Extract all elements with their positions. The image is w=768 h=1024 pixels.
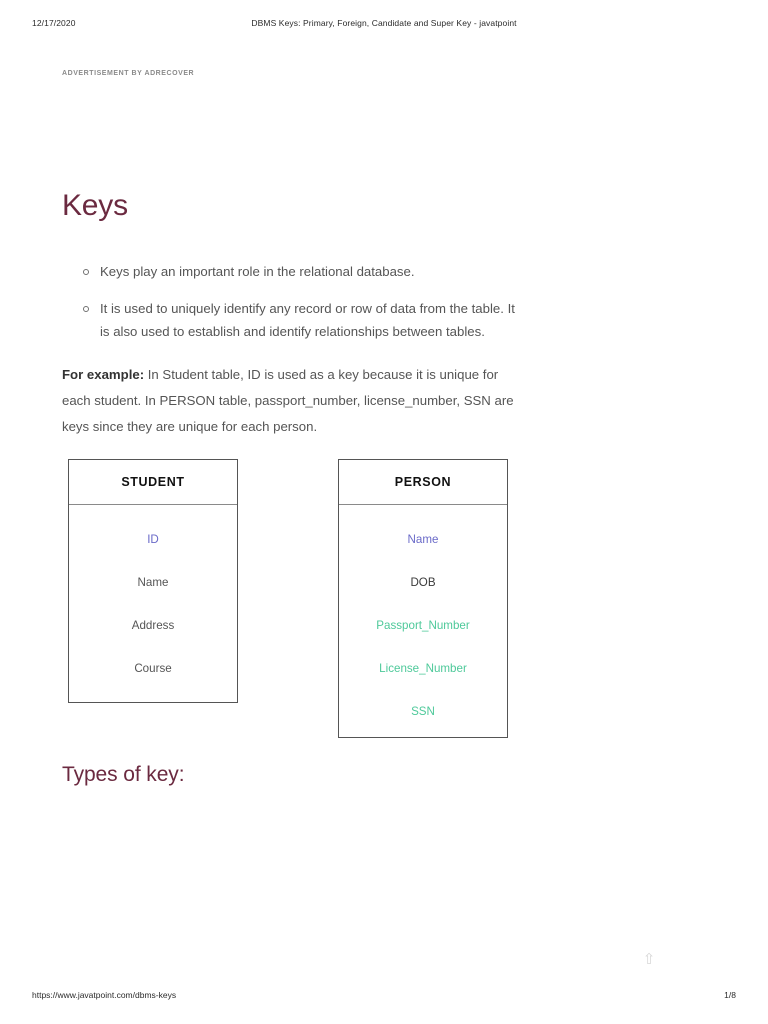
entity-field: SSN: [339, 690, 507, 733]
list-item: Keys play an important role in the relat…: [100, 260, 520, 284]
entity-table-body: Name DOB Passport_Number License_Number …: [339, 505, 507, 733]
article-content: Keys Keys play an important role in the …: [62, 186, 582, 440]
entity-field: Address: [69, 604, 237, 647]
entity-field: Course: [69, 647, 237, 690]
example-paragraph: For example: In Student table, ID is use…: [62, 362, 514, 440]
print-source-url: https://www.javatpoint.com/dbms-keys: [32, 990, 176, 1000]
entity-field: ID: [69, 518, 237, 561]
entity-field: DOB: [339, 561, 507, 604]
entity-field: Name: [69, 561, 237, 604]
example-lead: For example:: [62, 367, 144, 382]
entity-table-body: ID Name Address Course: [69, 505, 237, 690]
entity-table-header: STUDENT: [69, 460, 237, 505]
print-page-title: DBMS Keys: Primary, Foreign, Candidate a…: [0, 18, 768, 28]
list-item: It is used to uniquely identify any reco…: [100, 297, 520, 344]
entity-field: Passport_Number: [339, 604, 507, 647]
print-page-number: 1/8: [724, 990, 736, 1000]
print-header: 12/17/2020 DBMS Keys: Primary, Foreign, …: [0, 18, 768, 32]
scroll-to-top-icon[interactable]: ⇧: [641, 950, 657, 970]
page-title: Keys: [62, 186, 582, 226]
keys-bullet-list: Keys play an important role in the relat…: [62, 260, 582, 344]
print-footer: https://www.javatpoint.com/dbms-keys 1/8: [0, 990, 768, 1004]
entity-table-header: PERSON: [339, 460, 507, 505]
entity-table-student: STUDENT ID Name Address Course: [68, 459, 238, 703]
entity-table-person: PERSON Name DOB Passport_Number License_…: [338, 459, 508, 738]
entity-field: Name: [339, 518, 507, 561]
entity-diagram: STUDENT ID Name Address Course PERSON Na…: [0, 459, 768, 759]
section-heading-types-of-key: Types of key:: [62, 763, 184, 787]
advertisement-label: ADVERTISEMENT BY ADRECOVER: [62, 70, 194, 77]
entity-field: License_Number: [339, 647, 507, 690]
